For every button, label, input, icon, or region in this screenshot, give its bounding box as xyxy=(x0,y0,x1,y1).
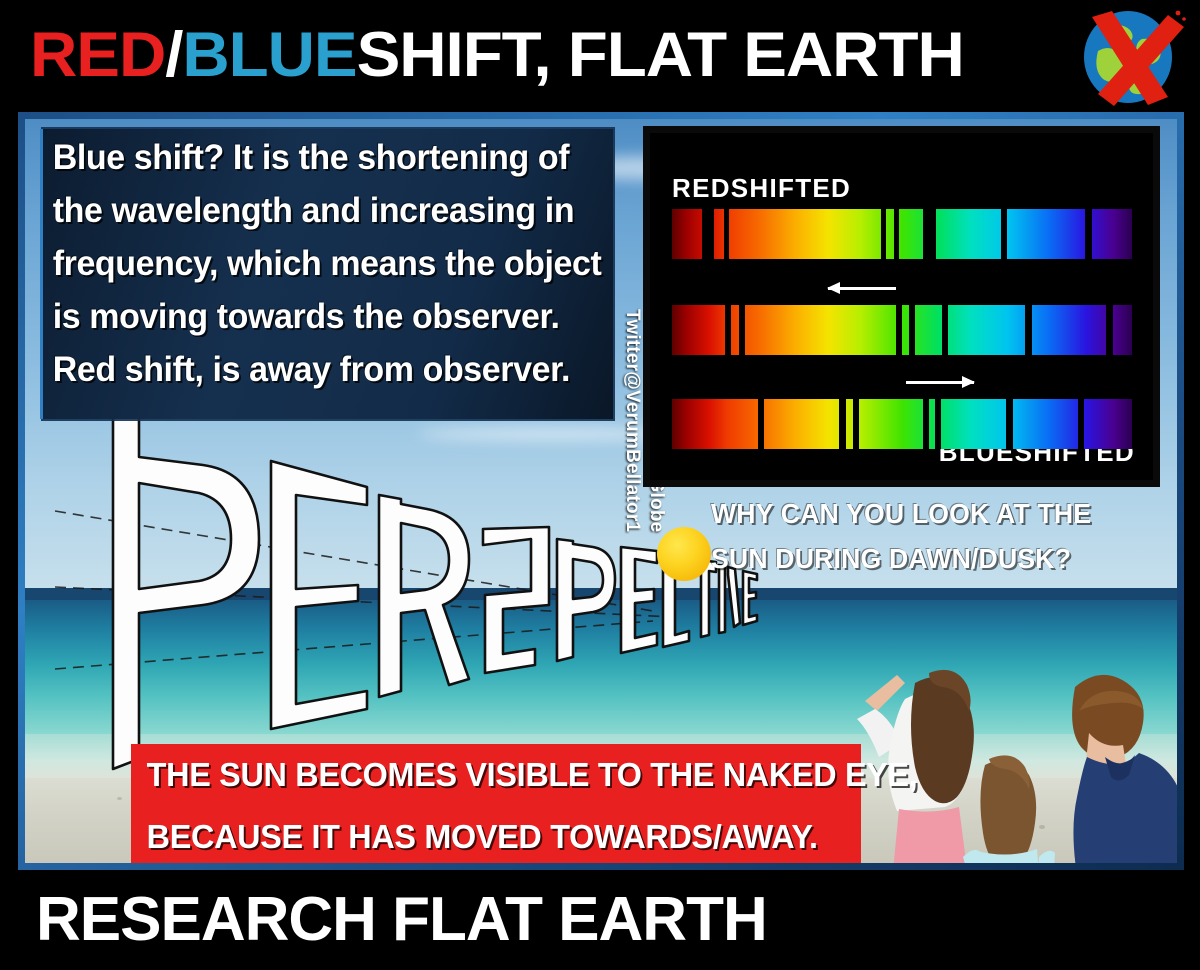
explanation-line-2: the wavelength and increasing in xyxy=(43,182,596,235)
spectrum-bar-blueshifted xyxy=(672,399,1132,449)
question-text: WHY CAN YOU LOOK AT THE SUN DURING DAWN/… xyxy=(711,491,1131,581)
horizon-line xyxy=(25,588,1177,600)
doppler-spectrum-chart: REDSHIFTED BLUESHIFTED xyxy=(646,129,1157,484)
spectrum-bar-rest xyxy=(672,305,1132,355)
title-part-slash: / xyxy=(165,22,182,88)
title-part-red: RED xyxy=(30,22,165,88)
explanation-line-5: Red shift, is away from observer. xyxy=(43,341,596,394)
banner-line-1: THE SUN BECOMES VISIBLE TO THE NAKED EYE… xyxy=(131,744,846,806)
globe-crossed-out-icon xyxy=(1068,5,1188,110)
girl xyxy=(963,755,1055,870)
man xyxy=(1072,675,1184,870)
footer-bar: RESEARCH FLAT EARTH xyxy=(0,870,1200,970)
spectrum-gradient xyxy=(672,399,1132,449)
header-bar: RED/BLUE SHIFT, FLAT EARTH xyxy=(0,0,1200,108)
sun-icon xyxy=(657,527,711,581)
page-title: RED/BLUE SHIFT, FLAT EARTH xyxy=(30,22,1101,88)
question-line-1: WHY CAN YOU LOOK AT THE xyxy=(711,491,1110,536)
flat-earth-infographic: RED/BLUE SHIFT, FLAT EARTH xyxy=(0,0,1200,970)
content-frame: Blue shift? It is the shortening of the … xyxy=(18,112,1184,870)
explanation-line-3: frequency, which means the object xyxy=(43,235,596,288)
title-part-blue: BLUE xyxy=(182,22,356,88)
footer-text: RESEARCH FLAT EARTH xyxy=(36,882,767,958)
banner-line-2: BECAUSE IT HAS MOVED TOWARDS/AWAY. xyxy=(131,806,846,868)
red-banner: THE SUN BECOMES VISIBLE TO THE NAKED EYE… xyxy=(131,744,861,870)
redshifted-label: REDSHIFTED xyxy=(672,173,851,204)
arrow-right-icon xyxy=(906,381,974,384)
title-part-rest: SHIFT, FLAT EARTH xyxy=(357,22,964,88)
spectrum-gradient xyxy=(672,209,1132,259)
blue-shift-explanation-box: Blue shift? It is the shortening of the … xyxy=(43,129,613,419)
explanation-line-4: is moving towards the observer. xyxy=(43,288,596,341)
arrow-left-icon xyxy=(828,287,896,290)
twitter-watermark: Twitter@VerumBellator1 xyxy=(621,309,643,532)
question-line-2: SUN DURING DAWN/DUSK? xyxy=(711,536,1110,581)
spectrum-bar-redshifted xyxy=(672,209,1132,259)
explanation-line-1: Blue shift? It is the shortening of xyxy=(43,129,596,182)
